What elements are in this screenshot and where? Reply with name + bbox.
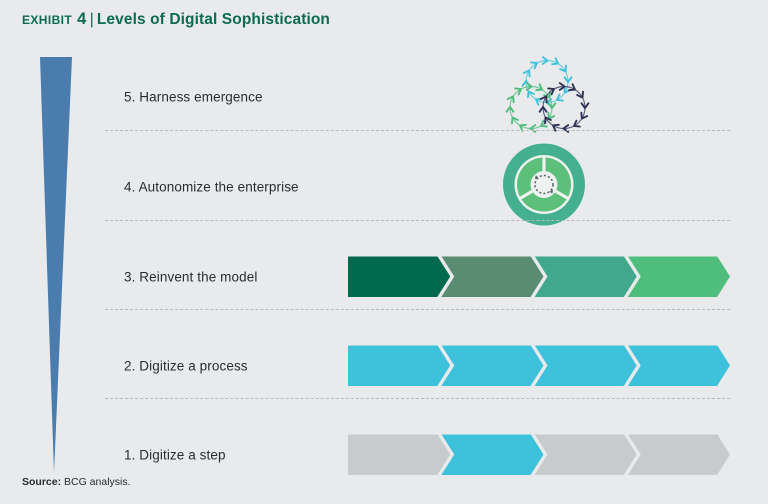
chevron-segment [535,434,637,475]
chevron-strip-level-1 [348,434,730,475]
level-row-5: 5. Harness emergence [105,52,730,141]
chevron-segment [628,345,730,386]
chevron-segment [348,434,450,475]
autonomy-circle-icon [502,142,586,231]
chevron-segment [628,256,730,297]
level-label-1: 1. Digitize a step [124,447,226,462]
level-label-2: 2. Digitize a process [124,358,248,373]
level-row-3: 3. Reinvent the model [105,232,730,321]
level-row-1: 1. Digitize a step [105,410,730,499]
emergence-circle-left [507,83,556,132]
chevron-strip-level-2 [348,345,730,386]
chevron-segment [535,345,637,386]
title-headline: Levels of Digital Sophistication [97,11,330,28]
source-note: Source: BCG analysis. [22,476,131,488]
source-label: Source: [22,476,61,488]
level-label-3: 3. Reinvent the model [124,269,257,284]
level-label-5: 5. Harness emergence [124,89,263,104]
chevron-segment [441,434,543,475]
level-row-2: 2. Digitize a process [105,321,730,410]
exhibit-number-label: Exhibit 4 [22,10,87,28]
chevron-segment [348,345,450,386]
chevron-segment [441,345,543,386]
page-title: Exhibit 4|Levels of Digital Sophisticati… [22,10,330,29]
title-separator: | [87,11,97,28]
digital-sophistication-wedge [40,57,72,473]
chevron-segment [348,256,450,297]
source-text: BCG analysis. [64,476,131,488]
chevron-segment [535,256,637,297]
row-divider [105,398,730,399]
row-divider [105,309,730,310]
level-label-4: 4. Autonomize the enterprise [124,179,299,194]
exhibit-chart-area: 5. Harness emergence [0,40,768,465]
chevron-segment [441,256,543,297]
chevron-strip-level-3 [348,256,730,297]
chevron-segment [628,434,730,475]
emergence-network-icon [500,54,596,139]
row-divider [105,130,730,131]
row-divider [105,220,730,221]
level-row-4: 4. Autonomize the enterprise [105,142,730,231]
